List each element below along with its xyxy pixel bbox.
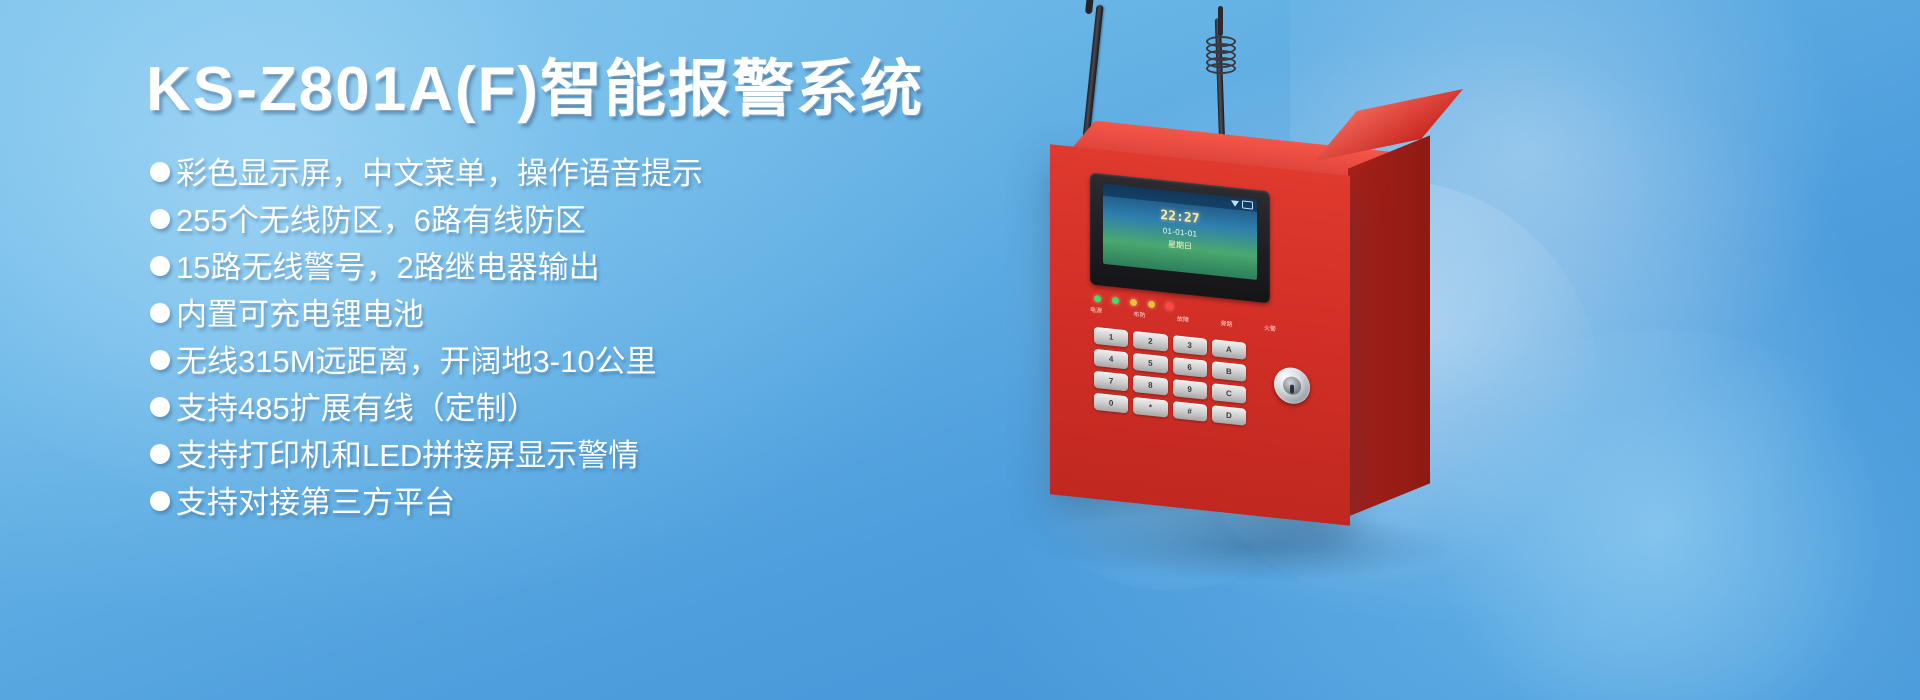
feature-text: 15路无线警号，2路继电器输出 [176,246,600,290]
feature-list: 彩色显示屏，中文菜单，操作语音提示 255个无线防区，6路有线防区 15路无线警… [150,152,970,528]
key-5[interactable]: 5 [1133,353,1167,374]
antenna-right-tip [1218,6,1223,36]
feature-text: 支持485扩展有线（定制） [176,387,538,431]
led-arm-icon [1112,297,1119,305]
key-hash[interactable]: # [1173,401,1207,422]
key-2[interactable]: 2 [1133,331,1167,352]
led-label: 故障 [1177,314,1189,324]
list-item: 支持打印机和LED拼接屏显示警情 [150,434,970,481]
bullet-dot-icon [150,209,170,229]
list-item: 内置可充电锂电池 [150,293,970,340]
key-0[interactable]: 0 [1094,393,1128,414]
antenna-left-tip [1085,0,1094,14]
enclosure-side [1348,135,1430,516]
key-c[interactable]: C [1212,383,1246,404]
signal-icon [1231,200,1239,207]
lcd-screen: 22:27 01-01-01 星期日 [1103,184,1257,280]
led-label: 布防 [1133,309,1145,319]
banner-stage: KS-Z801A(F)智能报警系统 彩色显示屏，中文菜单，操作语音提示 255个… [0,0,1920,700]
key-1[interactable]: 1 [1094,327,1128,348]
list-item: 支持对接第三方平台 [150,481,970,528]
feature-text: 支持打印机和LED拼接屏显示警情 [176,434,639,478]
led-label: 火警 [1264,323,1276,333]
feature-text: 255个无线防区，6路有线防区 [176,199,586,243]
antenna-coil-icon [1206,36,1232,70]
battery-icon [1242,200,1253,209]
led-label: 旁路 [1220,318,1232,328]
feature-text: 支持对接第三方平台 [176,481,455,525]
key-lock-icon[interactable] [1274,366,1310,406]
feature-text: 彩色显示屏，中文菜单，操作语音提示 [176,152,703,196]
key-b[interactable]: B [1212,361,1246,382]
key-7[interactable]: 7 [1094,371,1128,392]
bullet-dot-icon [150,444,170,464]
keypad[interactable]: 1 2 3 A 4 5 6 B 7 8 9 C 0 * # D [1094,327,1246,426]
lock-keyhole [1290,384,1294,393]
bullet-dot-icon [150,350,170,370]
bullet-dot-icon [150,397,170,417]
lock-core [1283,376,1301,396]
text-panel: KS-Z801A(F)智能报警系统 彩色显示屏，中文菜单，操作语音提示 255个… [0,0,960,700]
key-d[interactable]: D [1212,405,1246,426]
control-panel-face: 22:27 01-01-01 星期日 电源 布防 故障 旁路 火警 [1050,144,1350,526]
led-power-icon [1094,295,1101,303]
bullet-dot-icon [150,256,170,276]
key-a[interactable]: A [1212,339,1246,360]
list-item: 无线315M远距离，开阔地3-10公里 [150,340,970,387]
lcd-bezel: 22:27 01-01-01 星期日 [1090,172,1270,303]
product-image: 22:27 01-01-01 星期日 电源 布防 故障 旁路 火警 [930,0,1920,700]
feature-text: 无线315M远距离，开阔地3-10公里 [176,340,657,384]
key-4[interactable]: 4 [1094,349,1128,370]
key-9[interactable]: 9 [1173,379,1207,400]
led-fault-icon [1130,299,1137,307]
led-label: 电源 [1090,304,1102,314]
list-item: 15路无线警号，2路继电器输出 [150,246,970,293]
key-6[interactable]: 6 [1173,357,1207,378]
enclosure-side-top [1315,89,1463,161]
list-item: 255个无线防区，6路有线防区 [150,199,970,246]
key-8[interactable]: 8 [1133,375,1167,396]
list-item: 支持485扩展有线（定制） [150,387,970,434]
feature-text: 内置可充电锂电池 [176,293,424,337]
bullet-dot-icon [150,162,170,182]
page-title: KS-Z801A(F)智能报警系统 [146,54,924,126]
led-alarm-icon [1166,302,1173,310]
list-item: 彩色显示屏，中文菜单，操作语音提示 [150,152,970,199]
key-3[interactable]: 3 [1173,335,1207,356]
bullet-dot-icon [150,491,170,511]
key-star[interactable]: * [1133,397,1167,418]
led-bypass-icon [1148,301,1155,309]
bullet-dot-icon [150,303,170,323]
